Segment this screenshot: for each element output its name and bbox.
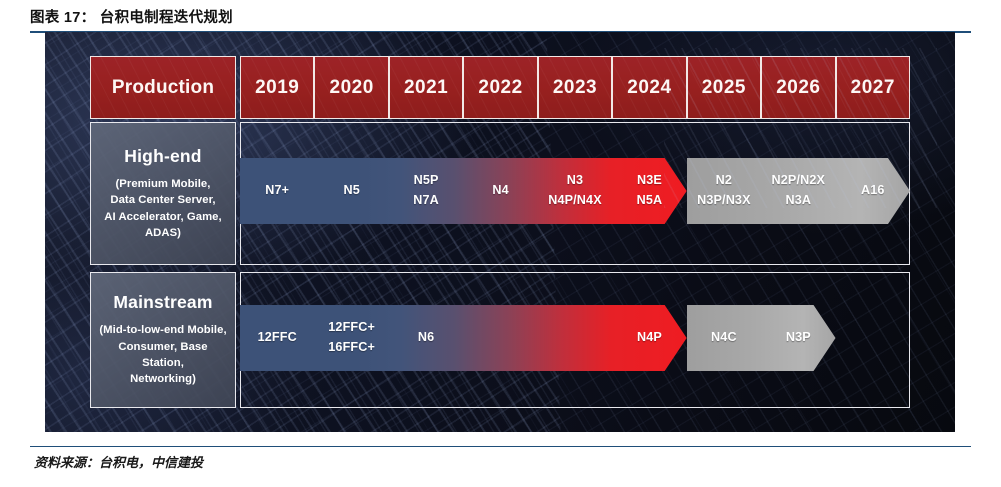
page-title: 图表 17： 台积电制程迭代规划 (30, 6, 971, 27)
process-node-label: N7A (413, 191, 439, 211)
process-node-n2p-n2x-n3a: N2P/N2XN3A (761, 158, 835, 224)
process-node-n4: N4 (463, 158, 537, 224)
footer-divider (30, 446, 971, 447)
process-arrow-high-end-current: N7+N5N5PN7AN4N3N4P/N4XN3EN5A (240, 158, 687, 224)
process-arrow-high-end-future: N2N3P/N3XN2P/N2XN3AA16 (687, 158, 910, 224)
process-node-n2-n3p-n3x: N2N3P/N3X (687, 158, 761, 224)
process-node-label: A16 (861, 181, 885, 201)
header-cell-year-2025: 2025 (687, 56, 761, 119)
process-node-label: N4P/N4X (548, 191, 602, 211)
process-node-label: N4P (637, 328, 662, 348)
process-node-label: 12FFC (258, 328, 297, 348)
process-node-label: N3P/N3X (697, 191, 751, 211)
process-node-label: N5 (343, 181, 359, 201)
roadmap-table: Production201920202021202220232024202520… (45, 32, 955, 432)
process-node-label: N7+ (265, 181, 289, 201)
header-cell-production: Production (90, 56, 236, 119)
process-node-label: N3A (785, 191, 811, 211)
row-label-subtitle: (Premium Mobile,Data Center Server,AI Ac… (104, 176, 221, 242)
process-arrow-mainstream-current: 12FFC12FFC+16FFC+N6N4P (240, 305, 687, 371)
process-arrow-mainstream-future: N4CN3P (687, 305, 836, 371)
process-node-label: N5A (637, 191, 663, 211)
header-cell-year-2022: 2022 (463, 56, 537, 119)
row-label-title: High-end (124, 146, 201, 167)
row-label-subtitle-line: AI Accelerator, Game, (104, 209, 221, 225)
source-note: 资料来源：台积电，中信建投 (34, 452, 203, 471)
process-node-n6: N6 (389, 305, 463, 371)
process-node-label: N2 (716, 171, 732, 191)
row-label-subtitle-line: ADAS) (104, 225, 221, 241)
process-node-n4c: N4C (687, 305, 761, 371)
header-cell-year-2021: 2021 (389, 56, 463, 119)
row-label-subtitle-line: (Premium Mobile, (104, 176, 221, 192)
header-cell-year-2020: 2020 (314, 56, 388, 119)
header-cell-year-2026: 2026 (761, 56, 835, 119)
row-label-high-end: High-end(Premium Mobile,Data Center Serv… (90, 122, 236, 265)
row-label-subtitle-line: Networking) (97, 371, 229, 387)
row-label-subtitle: (Mid-to-low-end Mobile,Consumer, Base St… (97, 322, 229, 388)
process-node-label: N5P (414, 171, 439, 191)
process-node-label: N3 (567, 171, 583, 191)
process-node-n5: N5 (314, 158, 388, 224)
process-node-12ffc-16ffc-: 12FFC+16FFC+ (314, 305, 388, 371)
process-node-label: N3P (786, 328, 811, 348)
header-cell-year-2027: 2027 (836, 56, 910, 119)
process-node-n7-: N7+ (240, 158, 314, 224)
header-cell-year-2023: 2023 (538, 56, 612, 119)
process-node-label: 16FFC+ (328, 338, 375, 358)
row-label-mainstream: Mainstream(Mid-to-low-end Mobile,Consume… (90, 272, 236, 408)
process-node-12ffc: 12FFC (240, 305, 314, 371)
process-node-label: N6 (418, 328, 434, 348)
row-label-subtitle-line: Data Center Server, (104, 192, 221, 208)
row-label-subtitle-line: Consumer, Base Station, (97, 339, 229, 372)
process-node-n3-n4p-n4x: N3N4P/N4X (538, 158, 612, 224)
process-node-label: N4C (711, 328, 737, 348)
process-node-label: N3E (637, 171, 662, 191)
figure-title-bar: 图表 17： 台积电制程迭代规划 (30, 6, 971, 33)
header-cell-year-2019: 2019 (240, 56, 314, 119)
figure-panel: Production201920202021202220232024202520… (45, 32, 955, 432)
process-node-n5p-n7a: N5PN7A (389, 158, 463, 224)
process-node-label: 12FFC+ (328, 318, 375, 338)
process-node-label: N4 (492, 181, 508, 201)
row-label-title: Mainstream (113, 292, 212, 313)
process-node-label: N2P/N2X (772, 171, 826, 191)
row-label-subtitle-line: (Mid-to-low-end Mobile, (97, 322, 229, 338)
header-cell-year-2024: 2024 (612, 56, 686, 119)
